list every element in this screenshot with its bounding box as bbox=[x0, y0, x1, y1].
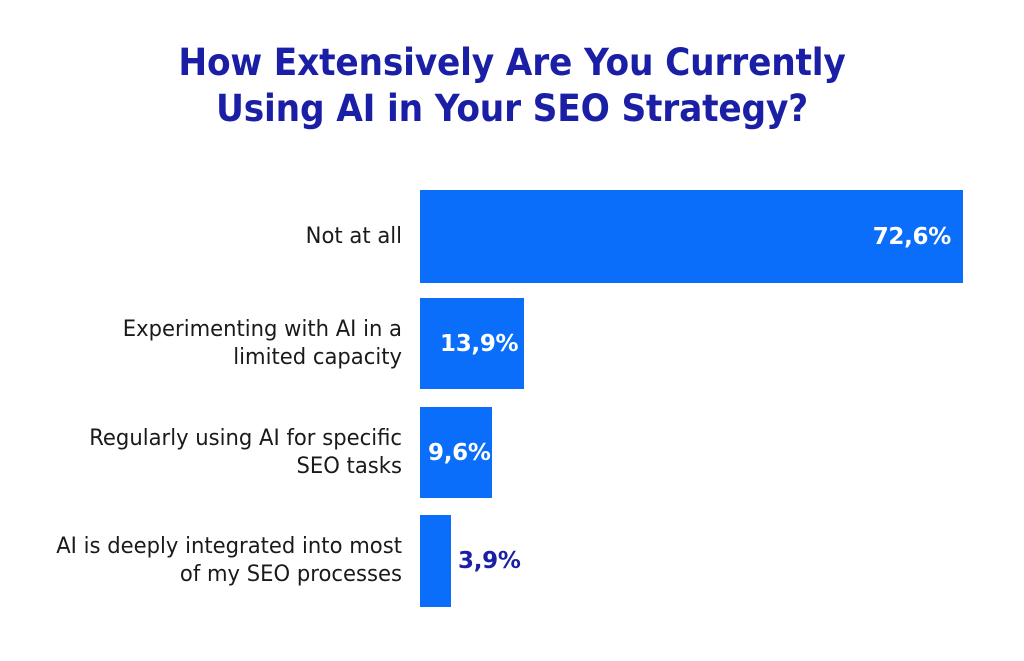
bar-value-label: 3,9% bbox=[458, 548, 521, 574]
bar-value-label: 13,9% bbox=[440, 331, 518, 357]
plot-area: Not at all 72,6% Experimenting with AI i… bbox=[0, 182, 1024, 622]
bar-track: 9,6% bbox=[420, 407, 492, 498]
category-label: Experimenting with AI in a limited capac… bbox=[54, 316, 402, 372]
category-label: Not at all bbox=[54, 223, 402, 251]
category-label: Regularly using AI for specific SEO task… bbox=[54, 425, 402, 481]
bar-track: 13,9% bbox=[420, 298, 524, 389]
bar-value-label: 72,6% bbox=[873, 224, 951, 250]
bar-row: AI is deeply integrated into most of my … bbox=[0, 515, 1024, 607]
bar-row: Experimenting with AI in a limited capac… bbox=[0, 298, 1024, 389]
bar-value-label: 9,6% bbox=[428, 440, 491, 466]
bar-row: Not at all 72,6% bbox=[0, 190, 1024, 283]
bar-rect[interactable] bbox=[420, 515, 451, 607]
bar-track: 3,9% bbox=[420, 515, 451, 607]
bar-track: 72,6% bbox=[420, 190, 963, 283]
category-label: AI is deeply integrated into most of my … bbox=[54, 533, 402, 589]
chart-title: How Extensively Are You Currently Using … bbox=[36, 40, 988, 132]
bar-chart-figure: How Extensively Are You Currently Using … bbox=[0, 0, 1024, 661]
bar-row: Regularly using AI for specific SEO task… bbox=[0, 407, 1024, 498]
